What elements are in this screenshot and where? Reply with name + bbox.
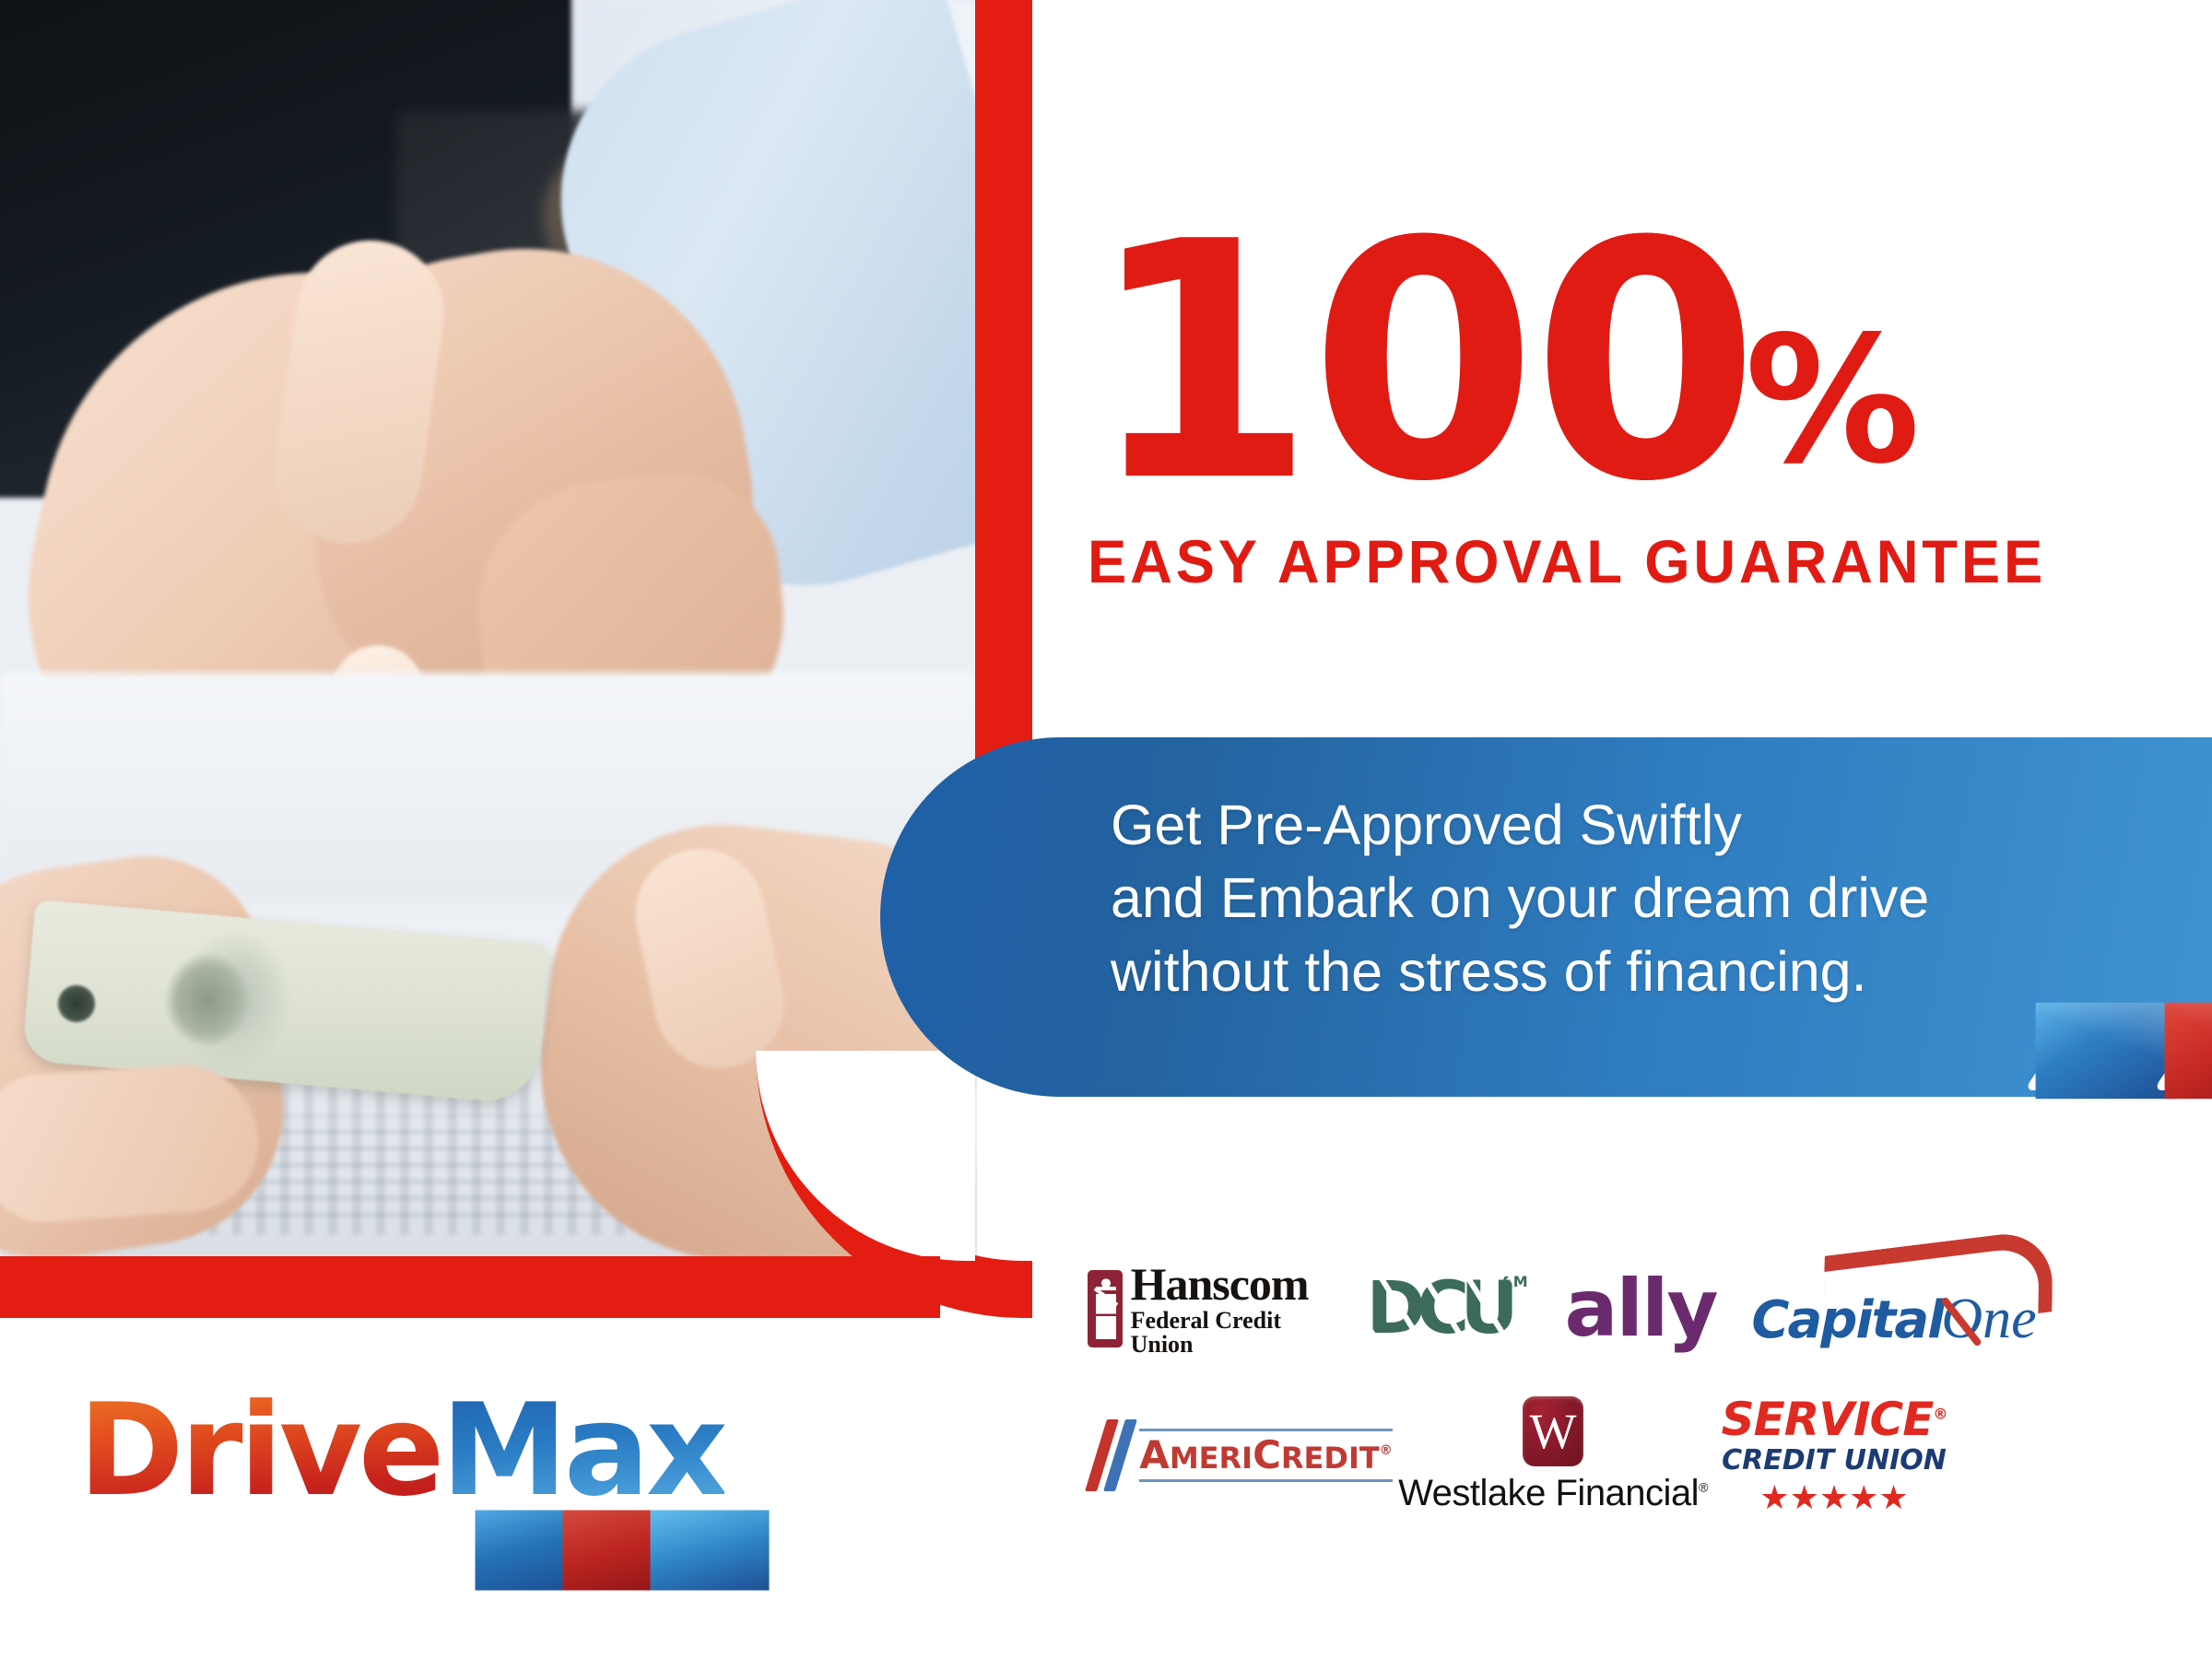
hanscom-minuteman-icon xyxy=(1088,1270,1123,1347)
headline-number: 100 xyxy=(1088,212,1754,513)
lender-logo-westlake-financial[interactable]: W Westlake Financial® xyxy=(1401,1396,1705,1514)
promo-line-2: and Embark on your dream drive xyxy=(1111,862,1929,935)
americredit-part1: A xyxy=(1139,1432,1170,1477)
lender-logo-service-credit-union[interactable]: SERVICE® CREDIT UNION ★★★★★ xyxy=(1705,1396,1963,1514)
lender-row-2: AMERICREDIT® W Westlake Financial® SERVI… xyxy=(1088,1377,2194,1534)
westlake-name-text: Westlake Financial xyxy=(1398,1473,1699,1513)
service-stars-icon: ★★★★★ xyxy=(1759,1481,1908,1514)
lender-logo-americredit[interactable]: AMERICREDIT® xyxy=(1088,1419,1401,1491)
westlake-badge-letter: W xyxy=(1530,1406,1577,1456)
service-line1-text: SERVICE xyxy=(1722,1393,1934,1446)
logo-chevron-group xyxy=(495,1524,749,1577)
service-name-line2: CREDIT UNION xyxy=(1722,1447,1947,1475)
lender-logo-dcu[interactable]: DCU SM xyxy=(1336,1273,1539,1345)
dcu-trademark: SM xyxy=(1502,1275,1527,1289)
lender-logo-capital-one[interactable]: Capital One xyxy=(1742,1270,2046,1347)
banner-chevron-group xyxy=(2051,1011,2212,1090)
americredit-slashes-icon xyxy=(1085,1419,1137,1491)
lender-row-1: Hanscom Federal Credit Union DCU SM ally xyxy=(1088,1244,2194,1373)
americredit-part3: C xyxy=(1253,1432,1281,1477)
brand-name-part2: Max xyxy=(441,1376,724,1524)
photo-bill-seal xyxy=(57,984,96,1023)
dcu-name: DCU xyxy=(1366,1267,1509,1350)
drivemax-logo[interactable]: DriveMax xyxy=(78,1387,816,1581)
red-frame-horizontal xyxy=(0,1256,940,1318)
ally-name: ally xyxy=(1564,1269,1716,1348)
americredit-rule-bottom xyxy=(1139,1479,1392,1482)
americredit-trademark: ® xyxy=(1380,1443,1393,1458)
lender-logos: Hanscom Federal Credit Union DCU SM ally xyxy=(1088,1244,2194,1534)
drivemax-wordmark: DriveMax xyxy=(78,1387,816,1514)
headline-subtitle: EASY APPROVAL GUARANTEE xyxy=(1088,526,2132,596)
headline-percent-group: 100 % xyxy=(1088,212,2175,513)
lender-logo-ally[interactable]: ally xyxy=(1539,1269,1742,1348)
promo-banner: Get Pre-Approved Swiftly and Embark on y… xyxy=(880,737,2212,1097)
westlake-name: Westlake Financial® xyxy=(1398,1473,1708,1514)
poster-canvas: 100 % EASY APPROVAL GUARANTEE Get Pre-Ap… xyxy=(0,0,2212,1659)
westlake-w-badge-icon: W xyxy=(1523,1396,1583,1466)
hanscom-name-line2: Federal Credit Union xyxy=(1131,1309,1336,1357)
photo-bill-portrait xyxy=(143,935,273,1065)
americredit-part4: REDIT xyxy=(1281,1441,1380,1476)
promo-line-1: Get Pre-Approved Swiftly xyxy=(1111,789,1929,862)
promo-line-3: without the stress of financing. xyxy=(1111,935,1929,1008)
hanscom-name-line1: Hanscom xyxy=(1131,1261,1336,1307)
americredit-part2: MERI xyxy=(1170,1441,1253,1476)
brand-name-part1: Drive xyxy=(78,1376,441,1524)
chevron-blue-icon xyxy=(652,1524,767,1577)
headline-percent-sign: % xyxy=(1745,313,1916,488)
americredit-name: AMERICREDIT® xyxy=(1139,1431,1392,1479)
service-name-line1: SERVICE® xyxy=(1722,1396,1947,1442)
headline-block: 100 % EASY APPROVAL GUARANTEE xyxy=(1088,212,2175,596)
photo-fingers-lower xyxy=(0,1060,263,1227)
service-trademark: ® xyxy=(1933,1405,1947,1422)
promo-banner-text: Get Pre-Approved Swiftly and Embark on y… xyxy=(1111,789,1929,1008)
lender-logo-hanscom[interactable]: Hanscom Federal Credit Union xyxy=(1088,1261,1336,1357)
